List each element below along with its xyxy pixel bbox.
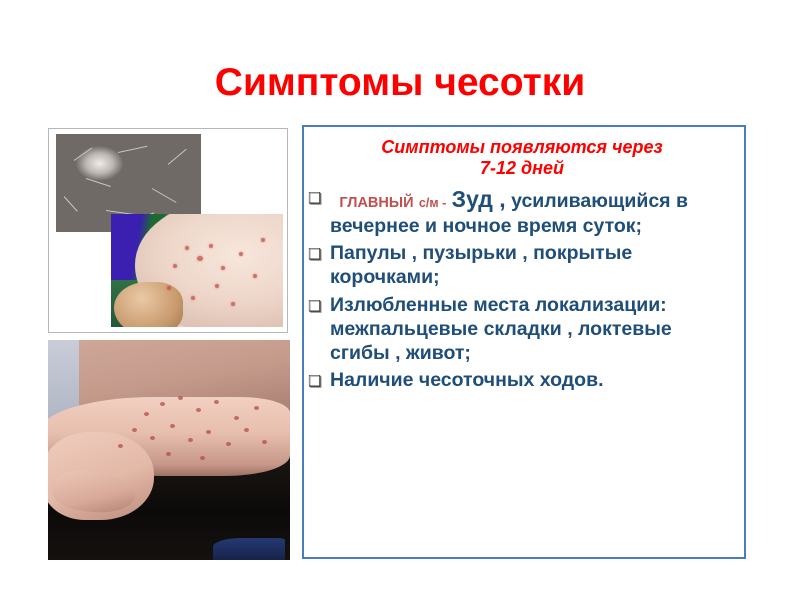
hand-wrist-rash-photo [48,340,290,560]
papule-mark [209,244,213,248]
lesion-mark [166,452,171,456]
lesion-mark [206,430,211,434]
papule-mark [191,296,195,300]
papule-mark [215,284,219,288]
skin-rash-photo [111,214,283,327]
papule-mark [231,302,235,306]
lesion-mark [200,456,205,460]
lesion-mark [244,428,249,432]
lesion-mark [262,440,267,444]
lesion-mark [132,428,137,432]
papule-mark [253,274,257,278]
list-item-localization: ❑ Излюбленные места локализации: межпаль… [308,293,736,366]
lesion-mark [214,400,219,404]
lesion-mark [144,412,149,416]
lesion-mark [188,438,193,442]
symptoms-heading-line2: 7-12 дней [314,158,730,179]
lesion-mark [170,424,175,428]
lesion-mark [150,436,155,440]
list-item-papules: ❑ Папулы , пузырьки , покрытые корочками… [308,241,736,289]
lesion-mark [118,444,123,448]
symptoms-heading-line1: Симптомы появляются через [314,137,730,158]
papule-mark [185,246,189,250]
papule-mark [239,252,243,256]
image-frame-top [48,128,288,333]
bullet-text-burrows: Наличие чесоточных ходов. [330,368,736,392]
list-item-itch: ❑ ГЛАВНЫЙ с/м - Зуд , усиливающийся в ве… [308,185,736,238]
symptoms-heading: Симптомы появляются через 7-12 дней [314,137,730,179]
bullet-text-papules: Папулы , пузырьки , покрытые корочками; [330,241,736,289]
papule-mark [173,264,177,268]
lesion-mark [254,406,259,410]
square-bullet-icon: ❑ [308,185,330,206]
papule-mark [167,286,171,290]
square-bullet-icon: ❑ [308,241,330,262]
lesion-mark [234,416,239,420]
symptoms-list: ❑ ГЛАВНЫЙ с/м - Зуд , усиливающийся в ве… [308,185,736,392]
papule-mark [261,238,265,242]
symptoms-textbox: Симптомы появляются через 7-12 дней ❑ ГЛ… [302,125,746,559]
lesion-mark [160,402,165,406]
page-title: Симптомы чесотки [0,62,800,105]
bullet-text-localization: Излюбленные места локализации: межпальце… [330,293,736,366]
hand-photo-fabric [213,538,286,560]
bullet-text-itch: ГЛАВНЫЙ с/м - Зуд , усиливающийся в вече… [330,185,736,238]
papule-mark [197,256,203,261]
skin-rash-photo-fingers [114,282,183,327]
lesion-mark [226,442,231,446]
square-bullet-icon: ❑ [308,368,330,389]
papule-mark [221,266,225,270]
list-item-burrows: ❑ Наличие чесоточных ходов. [308,368,736,392]
square-bullet-icon: ❑ [308,293,330,314]
lesion-mark [196,408,201,412]
bullet-lead-abbrev: с/м - [419,196,446,210]
lesion-mark [178,396,183,400]
bullet-lead-main: ГЛАВНЫЙ [339,195,413,211]
bullet-keyword-itch: Зуд , [452,186,506,212]
